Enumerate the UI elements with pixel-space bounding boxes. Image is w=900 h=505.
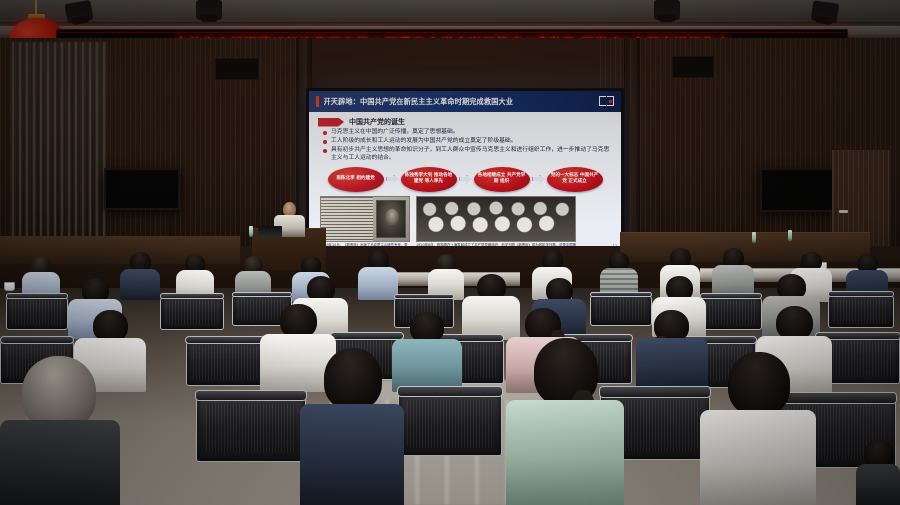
bullet-dot-icon xyxy=(323,140,327,144)
paper-cup xyxy=(4,282,15,291)
company-logo-icon xyxy=(598,95,614,107)
bullet-dot-icon xyxy=(323,149,327,153)
person-head xyxy=(22,356,96,430)
audience-chair xyxy=(196,396,306,462)
presentation-slide: 开天辟地：中国共产党在新民主主义革命时期完成救国大业 中国共产党的诞生 马克思主… xyxy=(309,91,621,252)
stage-light-icon xyxy=(196,0,222,20)
bullet-text: 具有初步共产主义思想的革命知识分子，到工人群众中宣传马克思主义和进行组织工作，进… xyxy=(331,147,613,162)
flow-node: 党的一大标志 中国共产党 正式成立 xyxy=(547,167,603,192)
slide-title-bar: 开天辟地：中国共产党在新民主主义革命时期完成救国大业 xyxy=(309,91,621,112)
person-torso xyxy=(856,464,900,505)
audience-member xyxy=(0,356,120,505)
portrait-image xyxy=(376,200,406,238)
audience-member xyxy=(358,250,398,298)
audience-member xyxy=(636,310,708,390)
audience-chair xyxy=(160,296,224,330)
stage-light-icon xyxy=(811,0,840,23)
slide-bullet-list: 马克思主义在中国的广泛传播，奠定了思想基础。 工人阶级的成长和工人运动的发展为中… xyxy=(323,129,621,163)
section-title: 中国共产党的诞生 xyxy=(349,117,405,127)
audience-member xyxy=(300,348,404,505)
bullet-text: 工人阶级的成长和工人运动的发展为中国共产党的成立奠定了阶级基础。 xyxy=(331,138,517,146)
audience-member xyxy=(856,440,900,505)
person-torso xyxy=(636,338,708,393)
section-arrow-icon xyxy=(318,118,344,127)
audience-member xyxy=(712,248,754,298)
bullet-text: 马克思主义在中国的广泛传播，奠定了思想基础。 xyxy=(331,129,459,137)
arrow-right-icon xyxy=(532,175,545,184)
audience-chair xyxy=(828,294,894,328)
slide-title: 开天辟地：中国共产党在新民主主义革命时期完成救国大业 xyxy=(324,97,513,107)
water-bottle xyxy=(249,226,253,237)
arrow-right-icon xyxy=(459,175,472,184)
water-bottle xyxy=(788,230,792,241)
conference-hall-photo: 中共南宁绿港建设投资集团有限公司委员会党史学习教育“感党恩 跟党走”专题宣讲报告… xyxy=(0,0,900,505)
stage-light-icon xyxy=(64,0,93,24)
person-torso xyxy=(120,269,160,300)
ceiling-speaker-icon xyxy=(215,58,259,80)
list-item: 工人阶级的成长和工人运动的发展为中国共产党的成立奠定了阶级基础。 xyxy=(323,138,621,146)
audience-member xyxy=(120,252,160,298)
audience-chair xyxy=(700,296,762,330)
person-head xyxy=(324,348,382,410)
wall-monitor-right xyxy=(760,168,836,212)
slide-photo-group: 1919年10月，《新青年》出版了马克思主义研究专号，李大钊发表《我的马克思主义… xyxy=(320,196,621,252)
person-head xyxy=(776,306,813,340)
flow-node: 南陈北李 相约建党 xyxy=(328,167,384,192)
person-torso xyxy=(0,420,120,505)
person-torso xyxy=(506,400,624,505)
projection-screen: 开天辟地：中国共产党在新民主主义革命时期完成救国大业 中国共产党的诞生 马克思主… xyxy=(306,88,624,255)
stage-light-icon xyxy=(654,0,680,20)
door-handle-icon[interactable] xyxy=(839,210,848,213)
person-head xyxy=(280,304,317,338)
person-torso xyxy=(700,410,816,505)
historical-photo-left: 1919年10月，《新青年》出版了马克思主义研究专号，李大钊发表《我的马克思主义… xyxy=(320,196,410,252)
person-torso xyxy=(300,404,404,505)
person-torso xyxy=(358,267,398,300)
audience-member xyxy=(700,352,816,505)
wall-monitor-left xyxy=(104,168,180,210)
historical-photo-right: 1920年8月，陈独秀在上海发起成立了共产党早期组织，机关刊物《新青年》成为其机… xyxy=(416,196,576,252)
newspaper-clipping-image xyxy=(320,196,410,242)
audience-member xyxy=(506,338,624,505)
list-item: 具有初步共产主义思想的革命知识分子，到工人群众中宣传马克思主义和进行组织工作，进… xyxy=(323,147,621,162)
arrow-right-icon xyxy=(386,175,399,184)
audience-member xyxy=(428,254,464,298)
person-head xyxy=(728,352,790,416)
ceiling-speaker-icon xyxy=(672,56,714,78)
flow-node: 各地相继成立 共产党早期 组织 xyxy=(474,167,530,192)
slide-section-header: 中国共产党的诞生 xyxy=(318,117,621,127)
podium-laptop xyxy=(258,226,282,238)
slide-flow-diagram: 南陈北李 相约建党 陈独秀李大钊 推动各地建党 等人率先 各地相继成立 共产党早… xyxy=(309,167,621,192)
flow-node: 陈独秀李大钊 推动各地建党 等人率先 xyxy=(401,167,457,192)
audience-chair xyxy=(398,392,502,456)
audience-chair xyxy=(6,296,68,330)
audience-chair xyxy=(186,340,264,386)
water-bottle xyxy=(752,232,756,243)
list-item: 马克思主义在中国的广泛传播，奠定了思想基础。 xyxy=(323,129,621,137)
bullet-dot-icon xyxy=(323,131,327,135)
group-photo-image xyxy=(416,196,576,242)
title-accent-bar xyxy=(316,96,319,107)
